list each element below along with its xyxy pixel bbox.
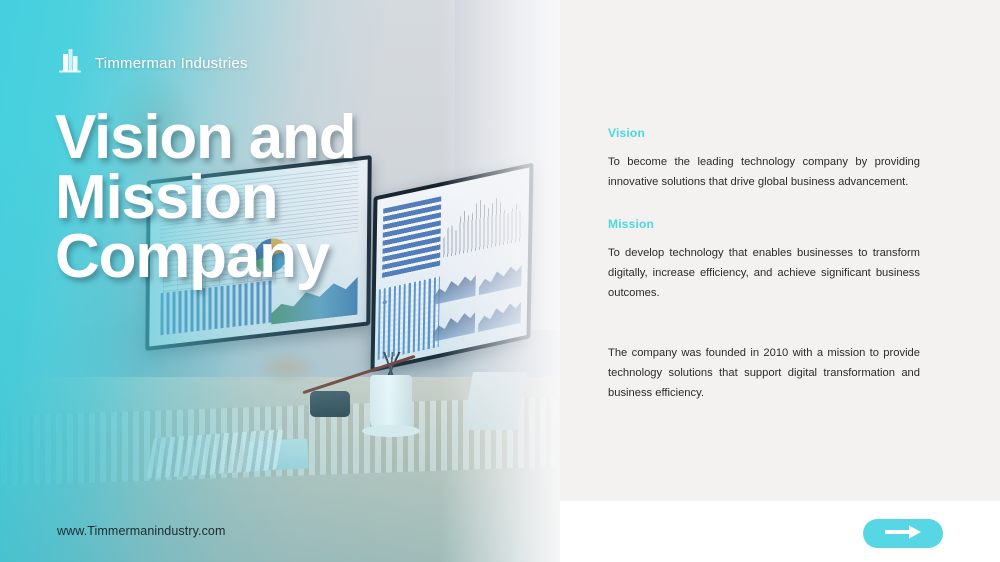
founding-block: The company was founded in 2010 with a m… [608, 344, 920, 404]
presentation-slide: Timmerman Industries Vision and Mission … [0, 0, 1000, 562]
mission-block: Mission To develop technology that enabl… [608, 217, 920, 304]
mission-heading: Mission [608, 217, 920, 231]
mission-body: To develop technology that enables busin… [608, 244, 920, 304]
vision-heading: Vision [608, 126, 920, 140]
next-slide-button[interactable] [863, 519, 943, 548]
brand-name: Timmerman Industries [95, 55, 248, 72]
left-visual-panel: Timmerman Industries Vision and Mission … [0, 0, 560, 562]
website-url[interactable]: www.Timmermanindustry.com [57, 524, 226, 538]
building-icon [57, 46, 83, 81]
slide-title: Vision and Mission Company [55, 108, 515, 287]
founding-body: The company was founded in 2010 with a m… [608, 344, 920, 404]
vision-body: To become the leading technology company… [608, 153, 920, 193]
right-content-panel: Vision To become the leading technology … [560, 0, 1000, 562]
brand-lockup: Timmerman Industries [57, 46, 248, 81]
arrow-right-icon [883, 525, 923, 542]
vision-block: Vision To become the leading technology … [608, 126, 920, 193]
content-blocks: Vision To become the leading technology … [608, 126, 920, 404]
